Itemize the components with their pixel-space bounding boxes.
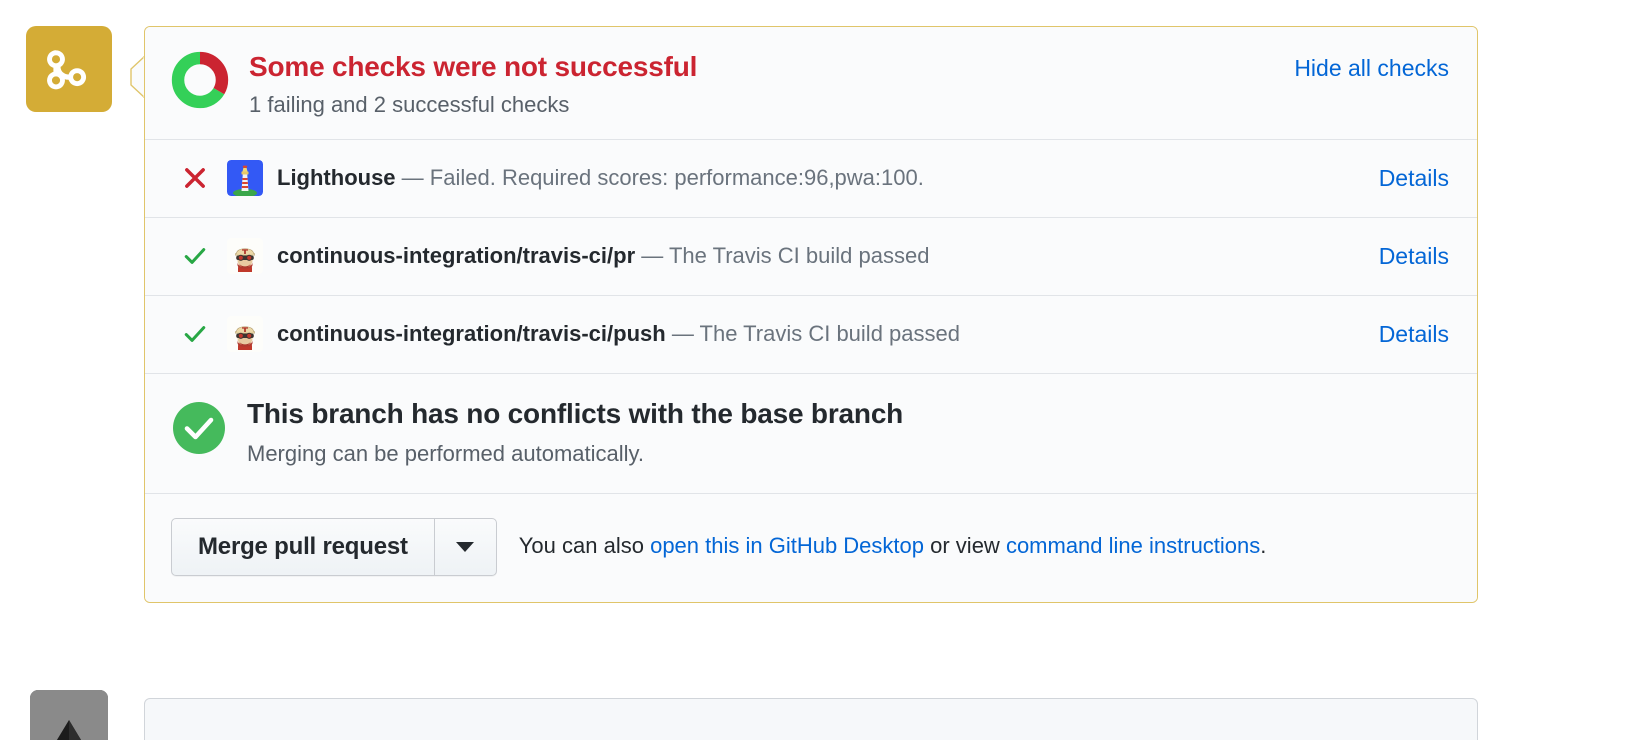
- merge-conflicts-subtitle: Merging can be performed automatically.: [247, 441, 903, 467]
- next-comment-box: [144, 698, 1478, 740]
- check-name: continuous-integration/travis-ci/push: [277, 321, 666, 346]
- merge-status-box: Some checks were not successful 1 failin…: [144, 26, 1478, 603]
- check-separator: —: [402, 165, 424, 190]
- merge-conflicts-section: This branch has no conflicts with the ba…: [145, 374, 1477, 494]
- merge-help-prefix: You can also: [519, 533, 650, 558]
- check-description: Failed. Required scores: performance:96,…: [430, 165, 924, 190]
- merge-options-dropdown-button[interactable]: [434, 519, 496, 575]
- check-description: The Travis CI build passed: [669, 243, 929, 268]
- merge-pull-request-button[interactable]: Merge pull request: [172, 519, 434, 575]
- checks-status-header: Some checks were not successful 1 failin…: [145, 27, 1477, 140]
- merge-conflicts-title: This branch has no conflicts with the ba…: [247, 398, 903, 430]
- checks-status-title: Some checks were not successful: [249, 51, 697, 83]
- check-name: continuous-integration/travis-ci/pr: [277, 243, 635, 268]
- merge-help-suffix: .: [1260, 533, 1266, 558]
- lighthouse-avatar: [227, 160, 263, 196]
- git-merge-icon: [43, 43, 95, 95]
- merge-action-footer: Merge pull request You can also open thi…: [145, 494, 1477, 602]
- merge-help-text: You can also open this in GitHub Desktop…: [519, 532, 1267, 561]
- check-row-text: Lighthouse — Failed. Required scores: pe…: [277, 164, 924, 192]
- check-details-link[interactable]: Details: [1379, 165, 1449, 192]
- avatar[interactable]: [30, 690, 108, 740]
- travis-ci-avatar: [227, 238, 263, 274]
- check-row: Lighthouse — Failed. Required scores: pe…: [145, 140, 1477, 218]
- check-icon: [181, 320, 227, 348]
- check-separator: —: [641, 243, 663, 268]
- command-line-instructions-link[interactable]: command line instructions: [1006, 533, 1260, 558]
- check-details-link[interactable]: Details: [1379, 243, 1449, 270]
- checks-status-subtitle: 1 failing and 2 successful checks: [249, 92, 697, 118]
- chevron-down-icon: [456, 542, 474, 552]
- hide-all-checks-link[interactable]: Hide all checks: [1294, 55, 1449, 82]
- pull-request-merge-status-screen: Some checks were not successful 1 failin…: [0, 0, 1644, 740]
- merge-conflicts-texts: This branch has no conflicts with the ba…: [247, 398, 903, 467]
- check-icon: [181, 242, 227, 270]
- check-row-text: continuous-integration/travis-ci/pr — Th…: [277, 242, 929, 270]
- merge-help-middle: or view: [924, 533, 1006, 558]
- checks-status-texts: Some checks were not successful 1 failin…: [249, 49, 697, 119]
- check-description: The Travis CI build passed: [700, 321, 960, 346]
- check-name: Lighthouse: [277, 165, 396, 190]
- merge-button-group: Merge pull request: [171, 518, 497, 576]
- checks-donut-chart: [171, 51, 229, 109]
- open-in-github-desktop-link[interactable]: open this in GitHub Desktop: [650, 533, 924, 558]
- travis-ci-avatar: [227, 316, 263, 352]
- green-check-circle-icon: [171, 400, 227, 456]
- check-separator: —: [672, 321, 694, 346]
- check-row: continuous-integration/travis-ci/push — …: [145, 296, 1477, 374]
- check-details-link[interactable]: Details: [1379, 321, 1449, 348]
- x-icon: [181, 164, 227, 192]
- check-row: continuous-integration/travis-ci/pr — Th…: [145, 218, 1477, 296]
- timeline-merge-badge: [26, 26, 112, 112]
- check-row-text: continuous-integration/travis-ci/push — …: [277, 320, 960, 348]
